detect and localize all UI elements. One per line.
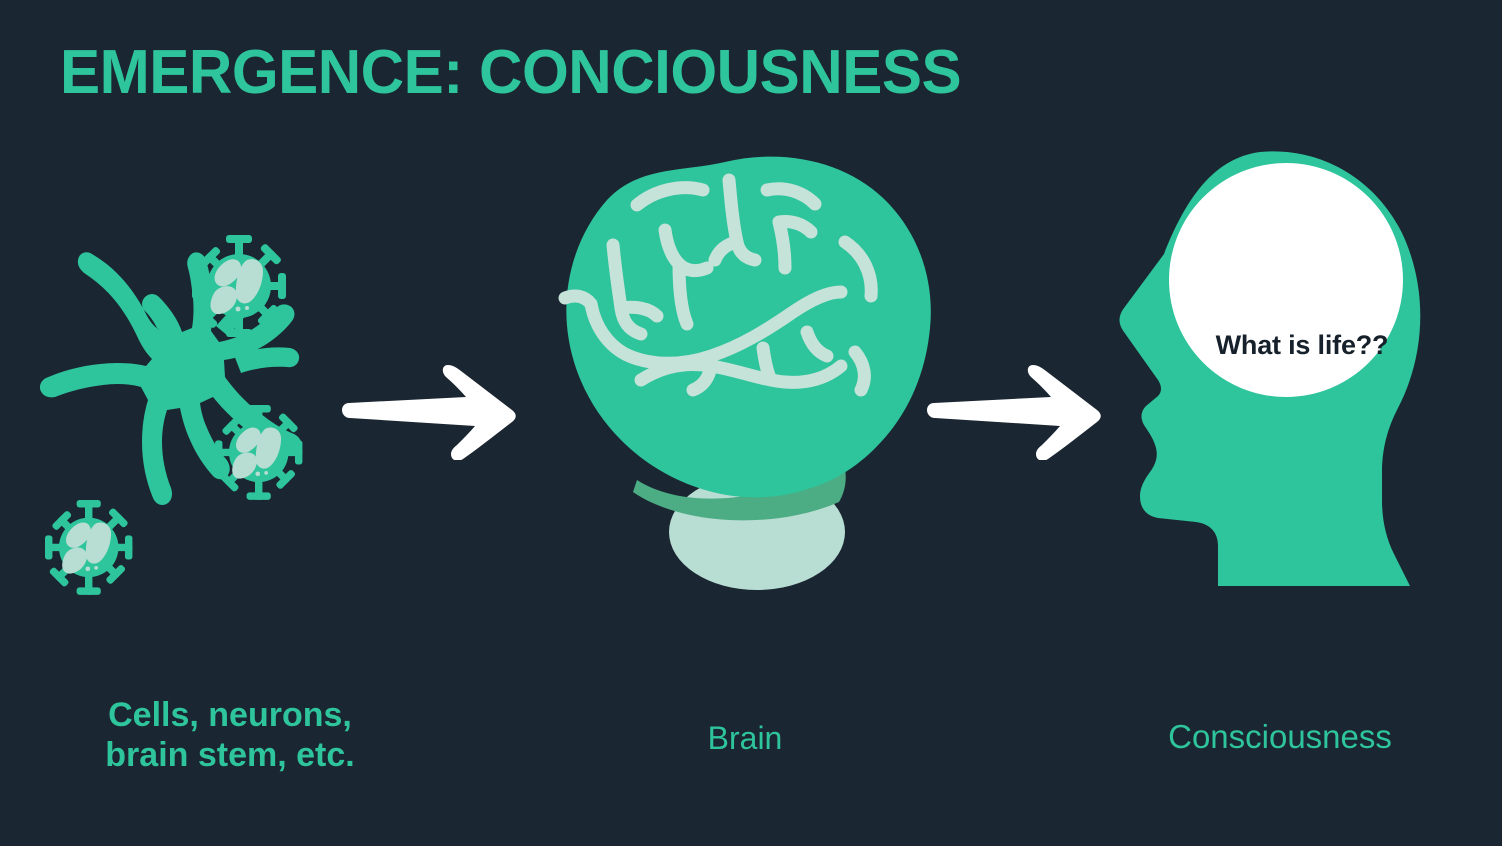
right-arrow-icon [340,365,525,460]
page-title: EMERGENCE: CONCIOUSNESS [60,40,961,105]
right-arrow-icon [925,365,1110,460]
caption-cells: Cells, neurons, brain stem, etc. [40,695,420,775]
cell-icon-3 [27,486,151,610]
thought-bubble [1169,163,1403,397]
cell-icon-2 [197,391,321,515]
caption-consciousness: Consciousness [1090,718,1470,757]
caption-brain: Brain [600,720,890,758]
brain-icon [545,150,940,670]
emergence-diagram [0,150,1502,710]
thought-text: What is life?? [1192,330,1412,361]
stage-consciousness [1110,150,1450,670]
slide-canvas: EMERGENCE: CONCIOUSNESS [0,0,1502,846]
head-silhouette-icon [1110,150,1450,670]
cerebrum-shape [566,157,930,498]
arrow-cells-to-brain [340,365,525,465]
stage-brain [545,150,940,670]
arrow-brain-to-consciousness [925,365,1110,465]
